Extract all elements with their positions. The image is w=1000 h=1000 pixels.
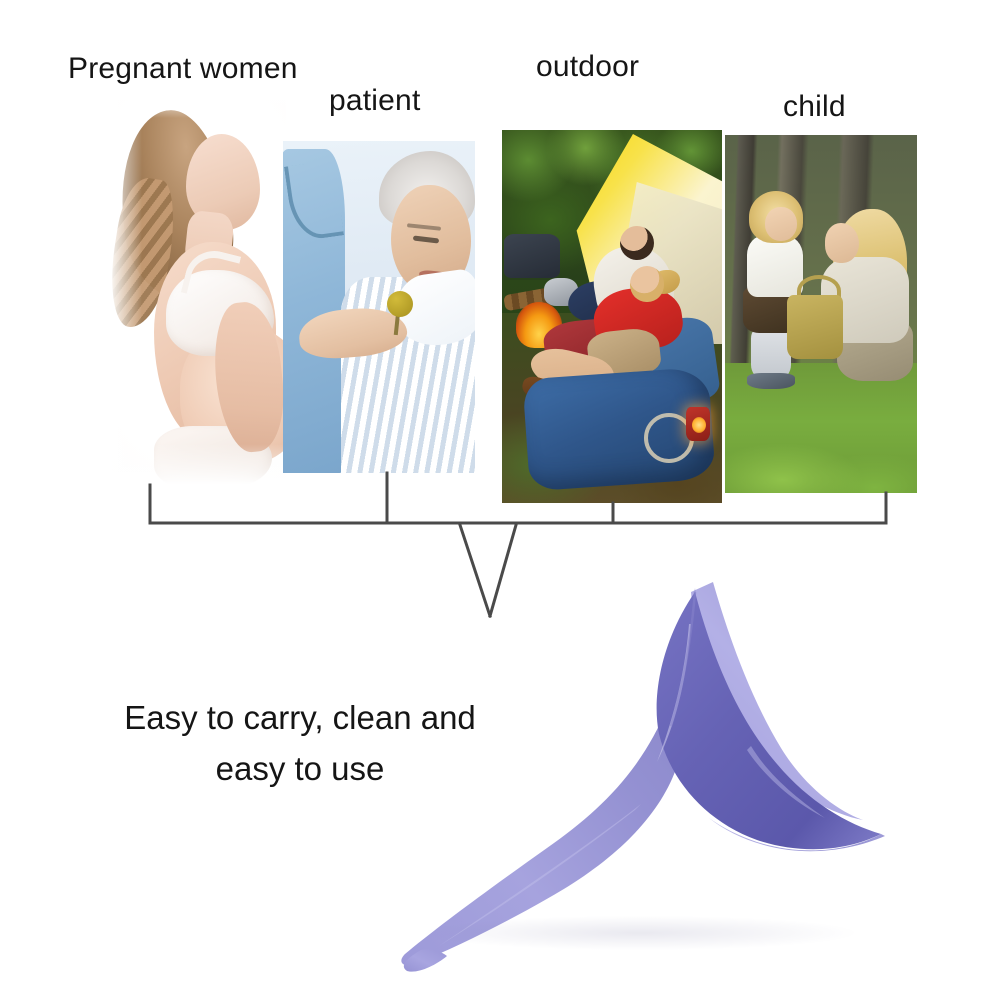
product-shadow xyxy=(425,916,855,950)
product-photo xyxy=(395,552,970,972)
funnel-body xyxy=(401,588,697,965)
funnel-illustration xyxy=(395,552,970,972)
infographic-canvas: Pregnant women patient outdoor child xyxy=(0,0,1000,1000)
